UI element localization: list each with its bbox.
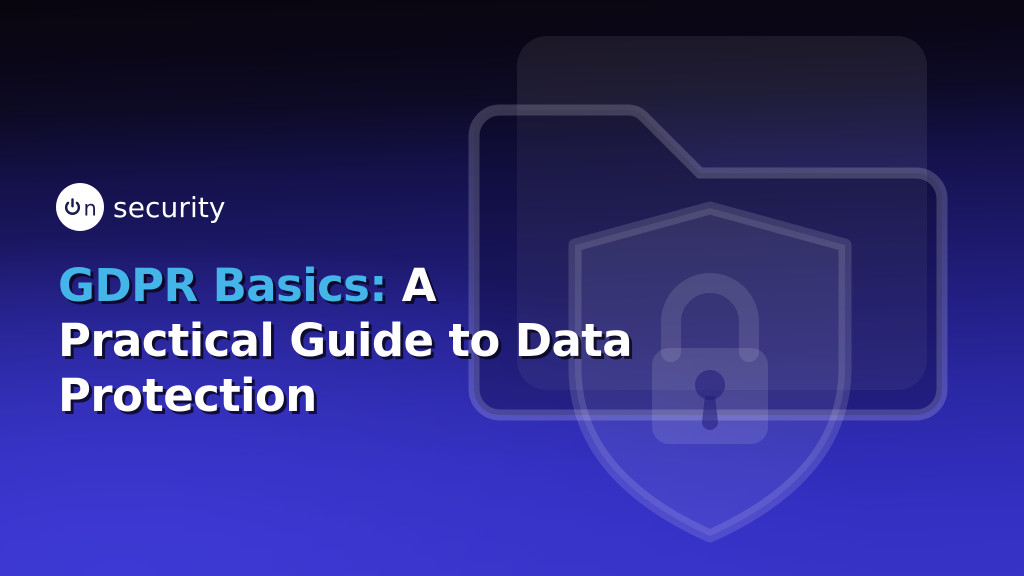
- logo-mark: n: [56, 183, 104, 231]
- logo-mark-inner: n: [63, 197, 96, 218]
- logo-letter-n: n: [83, 198, 96, 219]
- power-button-icon: [63, 198, 82, 217]
- banner-canvas: n security GDPR Basics: A Practical Guid…: [0, 0, 1024, 576]
- page-title: GDPR Basics: A Practical Guide to Data P…: [58, 258, 818, 423]
- page-title-accent: GDPR Basics:: [58, 259, 387, 312]
- brand-logo: n security: [56, 183, 226, 231]
- logo-wordmark: security: [113, 194, 226, 222]
